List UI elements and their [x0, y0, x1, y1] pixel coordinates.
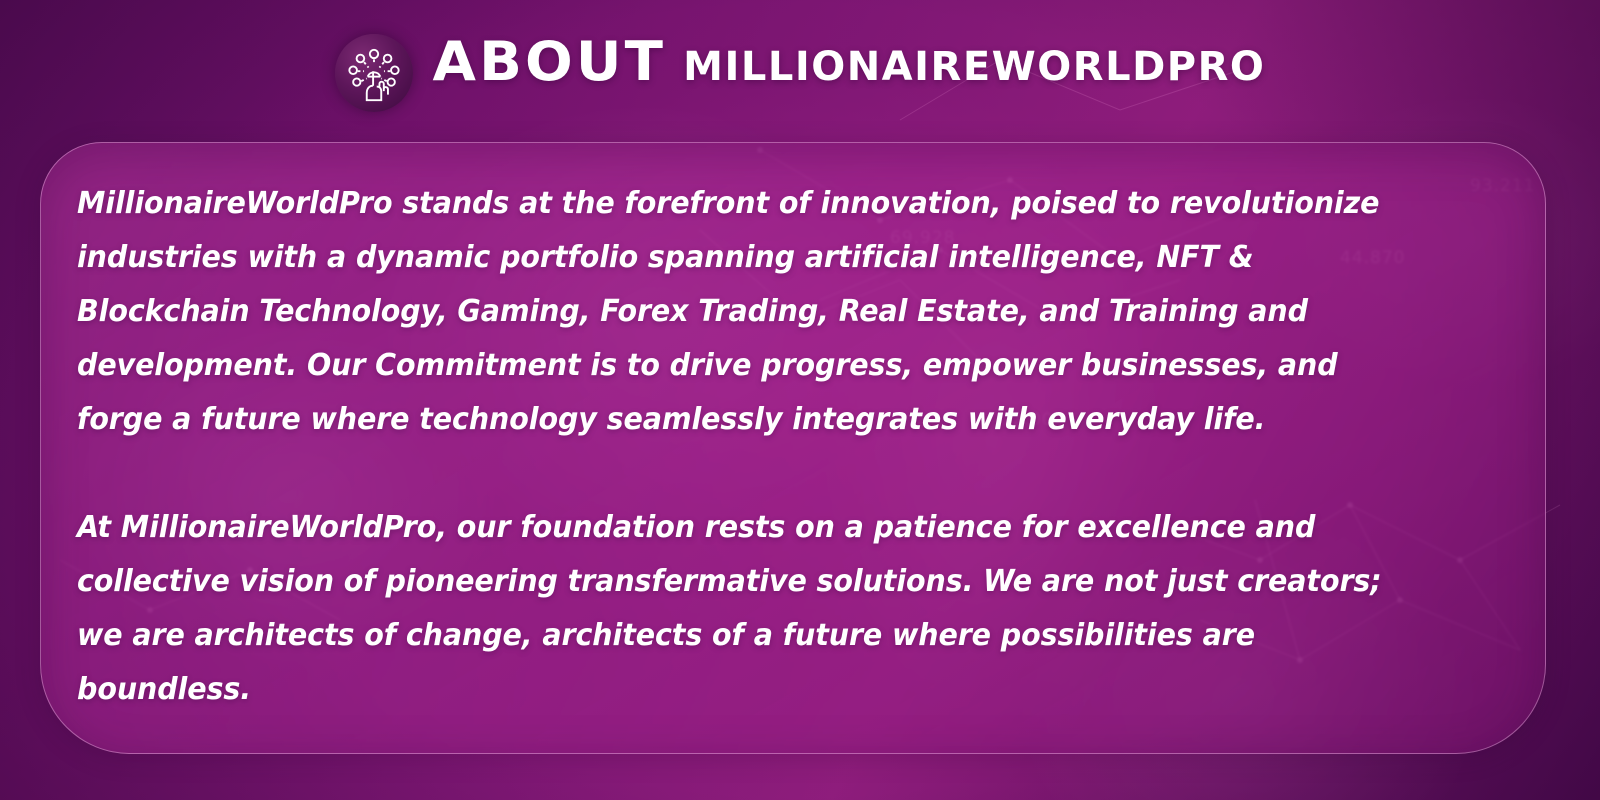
about-section: 69.928 44.870 12.002 93.211	[0, 0, 1600, 800]
about-paragraph-2: At MillionaireWorldPro, our foundation r…	[77, 501, 1422, 717]
section-header: ABOUT MILLIONAIREWORLDPRO	[0, 30, 1600, 115]
brand-name: MILLIONAIREWORLDPRO	[683, 44, 1265, 90]
about-paragraph-1: MillionaireWorldPro stands at the forefr…	[77, 177, 1422, 447]
page-title: ABOUT	[432, 30, 666, 93]
touch-network-icon	[345, 44, 403, 102]
title-block: ABOUT MILLIONAIREWORLDPRO	[437, 30, 1266, 115]
about-card: MillionaireWorldPro stands at the forefr…	[40, 142, 1546, 754]
title-underline-bar	[855, 102, 1047, 115]
logo-badge	[335, 34, 413, 112]
